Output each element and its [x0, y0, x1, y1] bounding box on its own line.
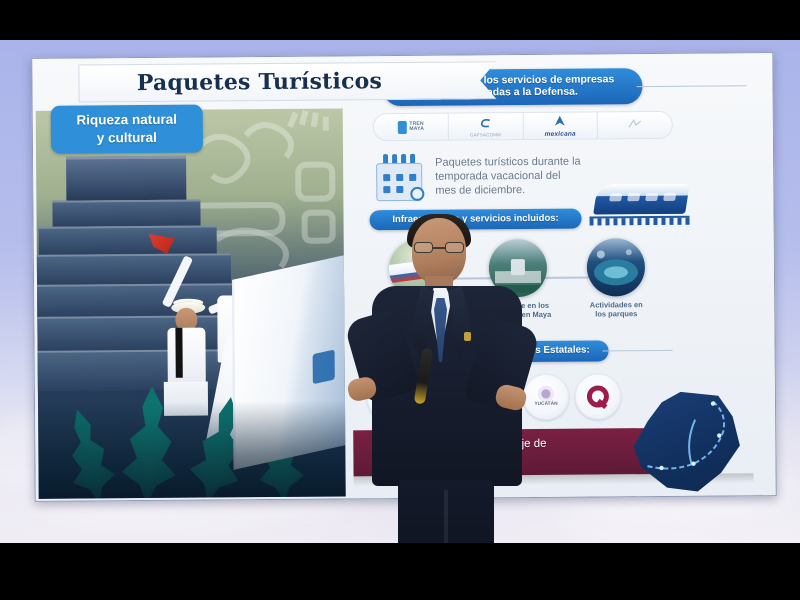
calendar-line-3: mes de diciembre.: [435, 183, 581, 198]
cuarto-logo-mark-icon: [628, 119, 642, 129]
left-photo-collage: [36, 108, 346, 498]
screenshot-stage: Paquetes Turísticos Riqueza natural y cu…: [0, 0, 800, 600]
presenter-lapel-pin: [464, 332, 471, 341]
train-illustration: [589, 180, 689, 233]
gafsacomm-mark-icon: [479, 118, 491, 128]
slide-title-banner: Paquetes Turísticos: [78, 62, 440, 103]
mexicana-label: mexicana: [545, 131, 576, 138]
riqueza-line-1: Riqueza natural: [76, 112, 177, 128]
letterbox-bar-bottom: [0, 543, 800, 600]
logo-cuarto: [598, 112, 672, 139]
divider-rule: [603, 350, 673, 352]
tren-maya-line-2: MAYA: [409, 127, 424, 132]
calendar-note-text: Paquetes turísticos durante la temporada…: [435, 153, 581, 202]
mexicana-mark-icon: [554, 115, 566, 126]
eyeglasses-icon: [414, 242, 464, 253]
logo-mexicana: mexicana: [523, 112, 598, 139]
photo-gradient-overlay: [38, 400, 346, 498]
calendar-clock-icon: [373, 154, 425, 202]
park-lagoon-glyph-icon: [587, 238, 645, 296]
gafsacomm-label: GAFSACOMM: [470, 133, 501, 138]
quintana-roo-mark-icon: [587, 385, 609, 407]
letterbox-bar-top: [0, 0, 800, 40]
logo-gafsacomm: GAFSACOMM: [448, 113, 523, 140]
partner-logo-strip: TREN MAYA GAFSACOMM: [373, 111, 673, 141]
state-logo-quintana-roo: [575, 373, 621, 419]
park-icon: [587, 238, 645, 296]
service-parks-line-2: los parques: [570, 309, 662, 319]
divider-rule: [637, 85, 747, 87]
tren-maya-mark-icon: [397, 120, 406, 133]
calendar-line-2: temporada vacacional del: [435, 169, 581, 184]
service-item-parks: Actividades en los parques: [570, 238, 663, 319]
page-title: Paquetes Turísticos: [137, 68, 382, 96]
logo-tren-maya: TREN MAYA: [374, 114, 449, 141]
riqueza-natural-badge: Riqueza natural y cultural: [51, 105, 203, 154]
train-track-icon: [590, 216, 690, 226]
calendar-line-1: Paquetes turísticos durante la: [435, 155, 581, 170]
riqueza-line-2: y cultural: [97, 130, 157, 145]
presenter-speaker: [352, 218, 542, 544]
